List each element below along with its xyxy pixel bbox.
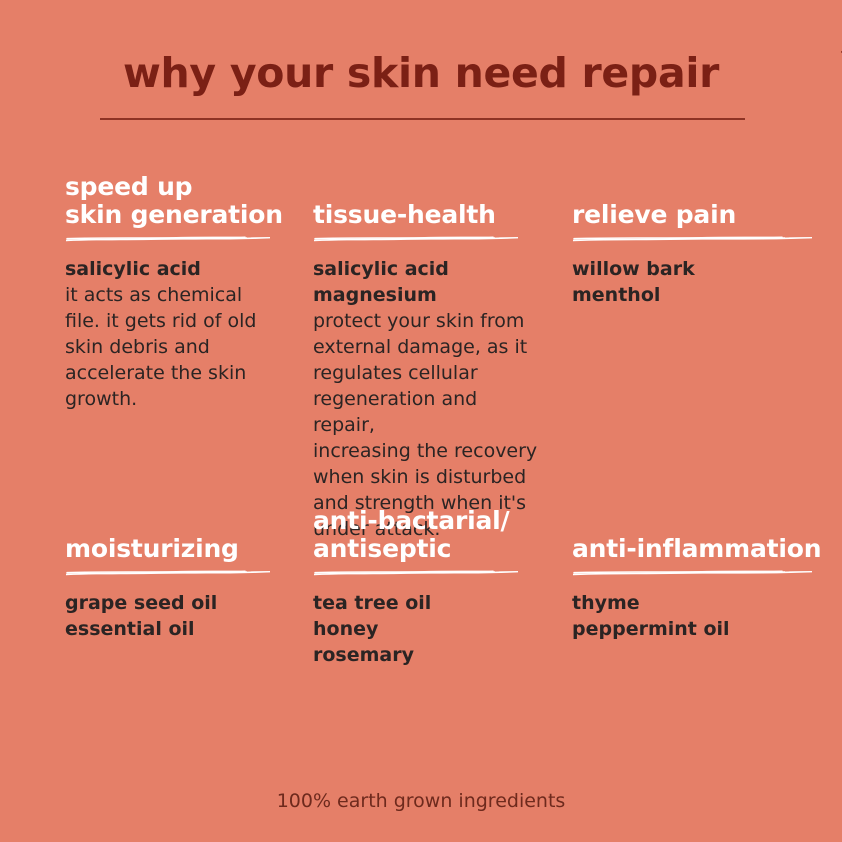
card-body: tea tree oil honey rosemary — [313, 590, 545, 668]
card-title: anti-bactarial/ antiseptic — [313, 507, 545, 563]
benefit-card-anti-bacterial-antiseptic: anti-bactarial/ antiseptic tea tree oil … — [313, 500, 545, 668]
card-heading-block: anti-bactarial/ antiseptic — [313, 500, 545, 578]
card-title: anti-inflammation — [572, 535, 822, 563]
brush-underline — [313, 234, 521, 244]
brush-underline — [313, 568, 521, 578]
brush-underline — [65, 234, 273, 244]
card-heading-block: speed up skin generation — [65, 166, 297, 244]
brush-underline — [572, 234, 815, 244]
card-ingredients: salicylic acid magnesium — [313, 256, 545, 308]
card-ingredients: tea tree oil honey rosemary — [313, 590, 545, 668]
brush-underline — [65, 568, 273, 578]
card-heading-block: tissue-health — [313, 166, 545, 244]
card-ingredients: grape seed oil essential oil — [65, 590, 297, 642]
benefit-card-moisturizing: moisturizing grape seed oil essential oi… — [65, 500, 297, 642]
brush-underline — [572, 568, 815, 578]
card-heading-block: relieve pain — [572, 166, 822, 244]
card-title: moisturizing — [65, 535, 297, 563]
card-ingredients: salicylic acid — [65, 256, 297, 282]
footer-tagline: 100% earth grown ingredients — [0, 790, 842, 812]
benefit-card-speed-up-skin-generation: speed up skin generation salicylic acid … — [65, 166, 297, 412]
card-description: it acts as chemical file. it gets rid of… — [65, 282, 297, 412]
benefit-card-anti-inflammation: anti-inflammation thyme peppermint oil — [572, 500, 822, 642]
benefits-grid: speed up skin generation salicylic acid … — [0, 0, 842, 842]
card-body: grape seed oil essential oil — [65, 590, 297, 642]
benefit-card-tissue-health: tissue-health salicylic acid magnesium p… — [313, 166, 545, 542]
card-heading-block: moisturizing — [65, 500, 297, 578]
card-body: thyme peppermint oil — [572, 590, 822, 642]
card-title: relieve pain — [572, 201, 822, 229]
card-title: tissue-health — [313, 201, 545, 229]
card-body: willow bark menthol — [572, 256, 822, 308]
card-heading-block: anti-inflammation — [572, 500, 822, 578]
card-ingredients: thyme peppermint oil — [572, 590, 822, 642]
benefit-card-relieve-pain: relieve pain willow bark menthol — [572, 166, 822, 308]
card-title: speed up skin generation — [65, 173, 297, 229]
card-ingredients: willow bark menthol — [572, 256, 822, 308]
card-body: salicylic acid it acts as chemical file.… — [65, 256, 297, 412]
